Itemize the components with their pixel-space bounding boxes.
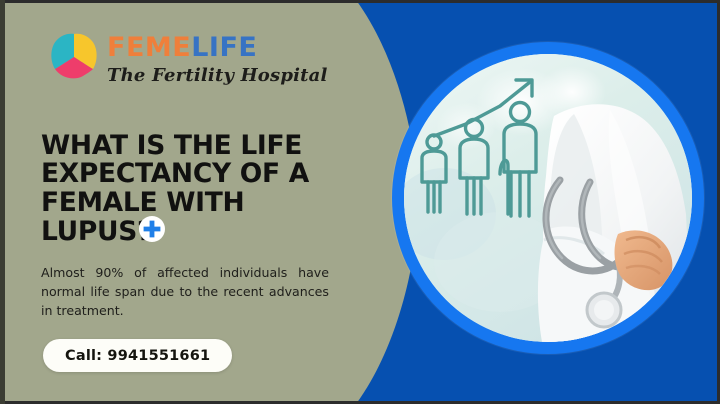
doctor-photo-circle: [392, 42, 704, 354]
medical-plus-icon: [139, 216, 165, 242]
logo-wordmark: FEMELIFE The Fertility Hospital: [107, 28, 328, 86]
logo-word-row: FEMELIFE: [107, 34, 328, 61]
poster-left-edge: [0, 0, 5, 404]
doctor-photo-image: [404, 54, 692, 342]
call-cta-button[interactable]: Call: 9941551661: [43, 339, 232, 372]
call-cta-label: Call: 9941551661: [65, 348, 210, 364]
brand-logo[interactable]: FEMELIFE The Fertility Hospital: [47, 28, 328, 86]
logo-word-secondary: LIFE: [191, 32, 257, 63]
poster-canvas: FEMELIFE The Fertility Hospital WHAT IS …: [0, 0, 720, 404]
body-paragraph: Almost 90% of affected individuals have …: [41, 263, 329, 320]
doctor-photo-artwork: [404, 54, 692, 342]
headline-title: WHAT IS THE LIFE EXPECTANCY OF A FEMALE …: [41, 132, 341, 246]
logo-tagline: The Fertility Hospital: [107, 65, 328, 86]
femelife-trefoil-logo-icon: [47, 28, 101, 84]
logo-word-primary: FEME: [107, 32, 191, 63]
